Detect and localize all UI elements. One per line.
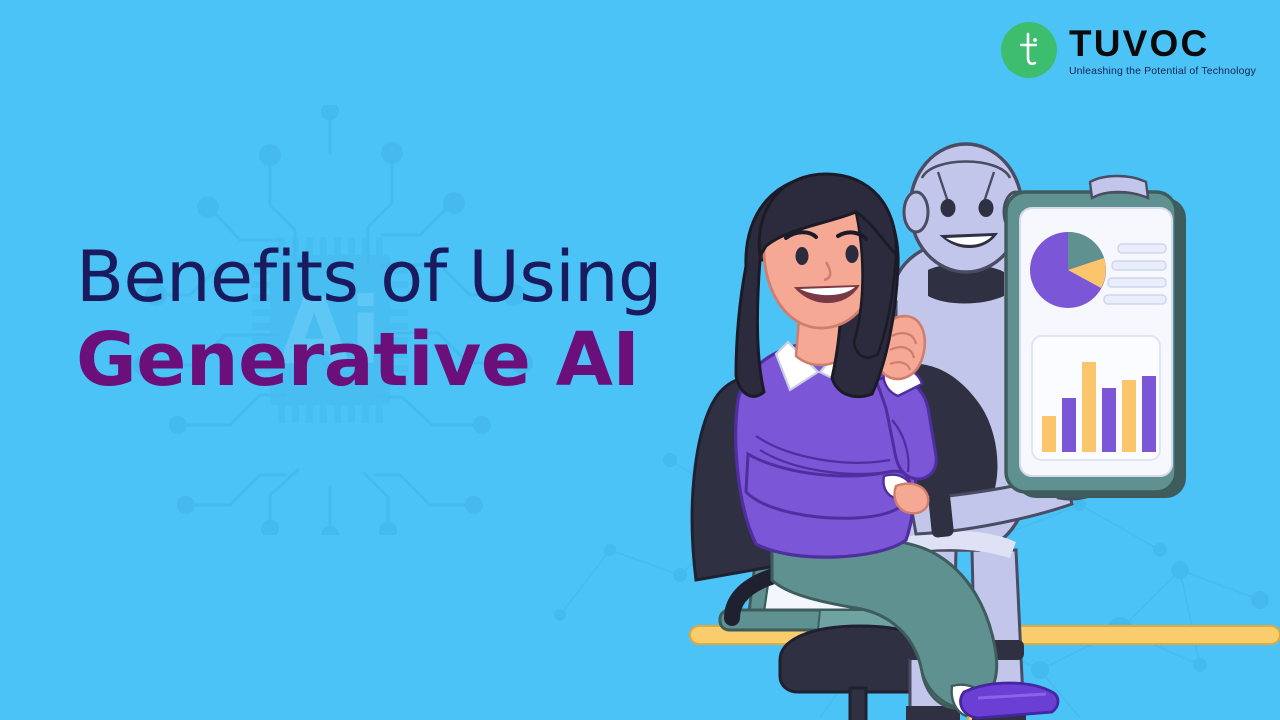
brand-logo[interactable]: TUVOC Unleashing the Potential of Techno… <box>1001 22 1256 78</box>
brand-tagline: Unleashing the Potential of Technology <box>1069 65 1256 77</box>
pie-chart <box>1030 232 1106 308</box>
headline-line-1: Benefits of Using <box>76 242 662 313</box>
tuvoc-mark-icon <box>1001 22 1057 78</box>
headline-line-2: Generative AI <box>76 321 662 399</box>
clipboard-report <box>1006 176 1186 498</box>
banner: Ai <box>0 0 1280 720</box>
hero-illustration <box>660 120 1280 720</box>
headline-block: Benefits of Using Generative AI <box>76 242 662 400</box>
bar-chart <box>1032 336 1160 460</box>
brand-name: TUVOC <box>1069 26 1210 61</box>
